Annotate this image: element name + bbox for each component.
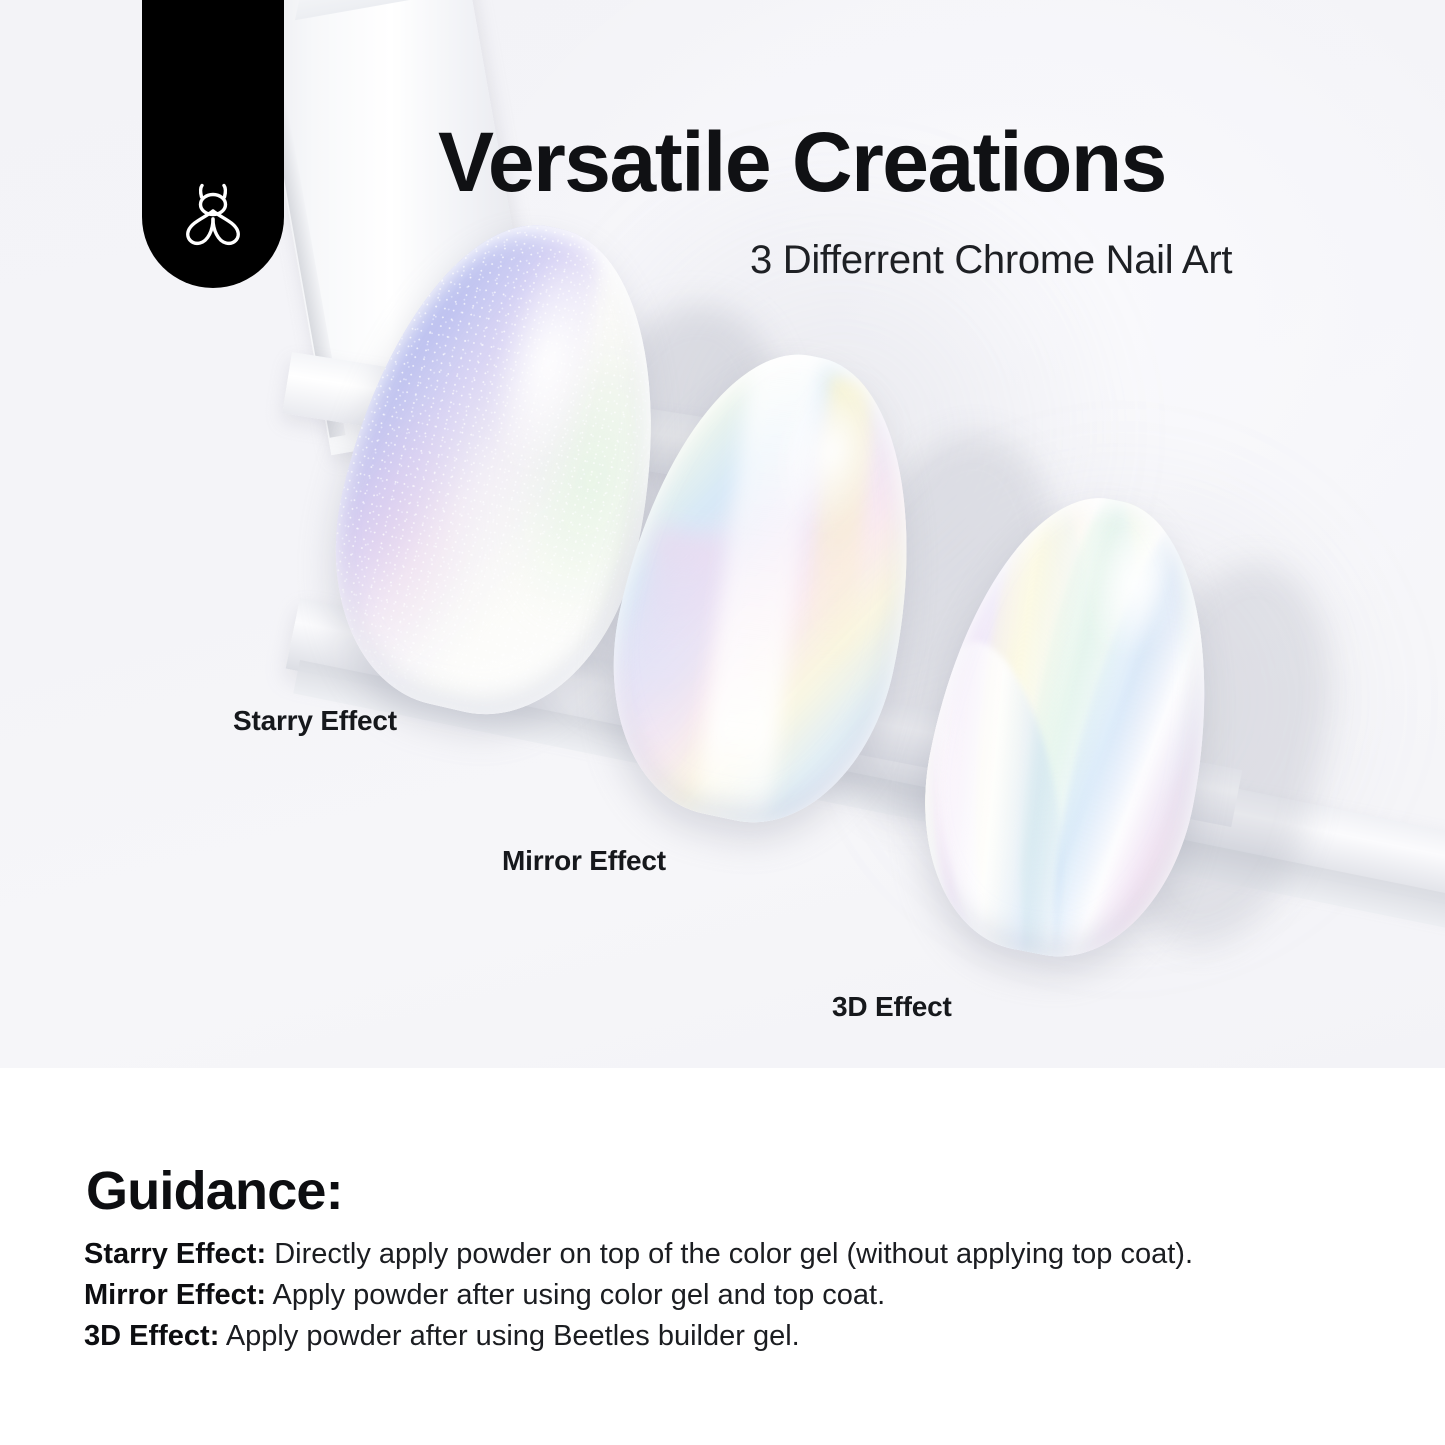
guidance-item-label: 3D Effect: (84, 1320, 219, 1352)
nail-caption-starry: Starry Effect (233, 705, 397, 737)
guidance-item-text: Apply powder after using color gel and t… (273, 1279, 886, 1311)
nail-caption-mirror: Mirror Effect (502, 845, 666, 877)
brand-logo-tab (142, 0, 284, 288)
guidance-item: Mirror Effect: Apply powder after using … (84, 1275, 1404, 1316)
guidance-item-label: Mirror Effect: (84, 1279, 266, 1311)
page-subtitle: 3 Differrent Chrome Nail Art (750, 238, 1232, 283)
guidance-item-text: Directly apply powder on top of the colo… (274, 1238, 1193, 1270)
guidance-heading: Guidance: (86, 1160, 343, 1222)
guidance-list: Starry Effect: Directly apply powder on … (84, 1234, 1404, 1358)
guidance-item: Starry Effect: Directly apply powder on … (84, 1234, 1404, 1275)
beetle-logo-icon (176, 178, 250, 252)
guidance-item: 3D Effect: Apply powder after using Beet… (84, 1316, 1404, 1357)
guidance-item-text: Apply powder after using Beetles builder… (226, 1320, 800, 1352)
product-photo-panel: Versatile Creations 3 Differrent Chrome … (0, 0, 1445, 1068)
guidance-section: Guidance: Starry Effect: Directly apply … (0, 1068, 1445, 1445)
page-title: Versatile Creations (438, 120, 1166, 204)
nail-caption-3d: 3D Effect (832, 991, 952, 1023)
guidance-item-label: Starry Effect: (84, 1238, 266, 1270)
